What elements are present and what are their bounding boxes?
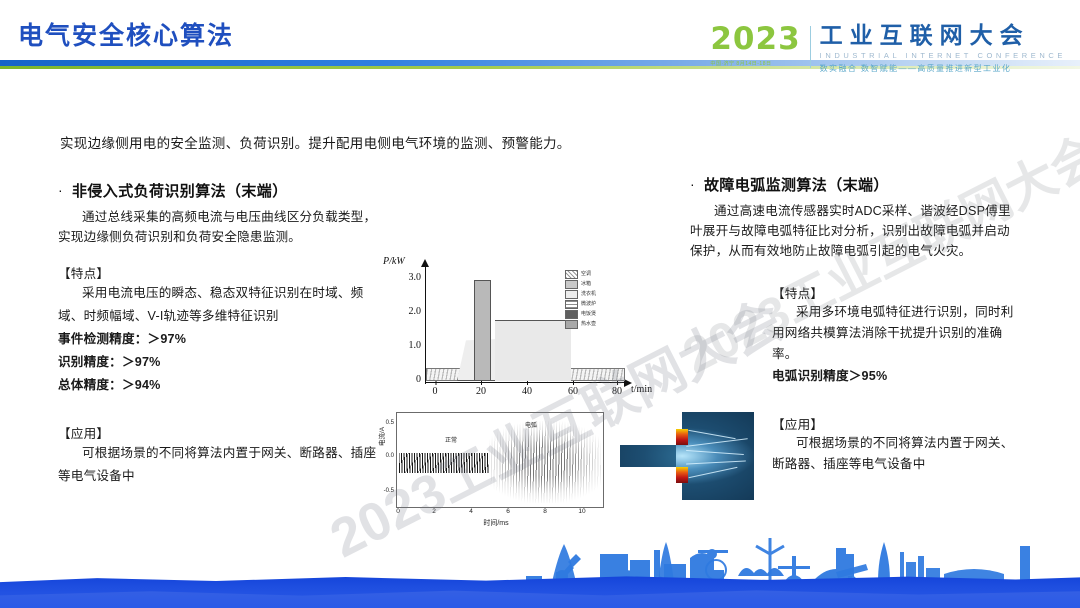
left-heading: 非侵入式负荷识别算法（末端） — [72, 180, 288, 201]
logo-name-cn: 工业互联网大会 — [820, 24, 1066, 47]
bullet-icon: · — [58, 180, 72, 200]
electrode-top — [620, 412, 682, 445]
chart2-xtick-5: 10 — [578, 508, 585, 515]
legend-label-1: 冰箱 — [581, 280, 596, 289]
chart1-legend: 空调 冰箱 洗衣机 微波炉 电饭煲 热水壶 — [565, 270, 596, 329]
chart1-xtick-0: 0 — [433, 386, 438, 397]
legend-label-0: 空调 — [581, 270, 596, 279]
chart2-ytick-0: 0.5 — [377, 420, 394, 426]
legend-swatch-1 — [565, 280, 578, 289]
legend-swatch-2 — [565, 290, 578, 299]
chart1-xtick-2: 40 — [522, 386, 532, 397]
chart2-xtick-1: 2 — [432, 508, 436, 515]
logo-year: 2023 — [710, 24, 800, 55]
chart2-series-arc — [489, 421, 601, 503]
legend-label-3: 微波炉 — [581, 300, 596, 309]
chart2-annotation-1: 电弧 — [525, 420, 537, 429]
chart2-xlabel: 时间/ms — [483, 518, 508, 528]
left-intro: 通过总线采集的高频电流与电压曲线区分负载类型，实现边缘侧负荷识别和负荷安全隐患监… — [58, 207, 388, 247]
footer-decoration — [0, 538, 1080, 608]
drone-wing-icon — [698, 550, 728, 553]
right-detail-block: 【特点】 采用多环境电弧特征进行识别，同时利用网络共模算法消除干扰提升识别的准确… — [772, 283, 1020, 475]
left-heading-row: · 非侵入式负荷识别算法（末端） — [58, 180, 388, 201]
chart1-legend-swatches — [565, 270, 578, 329]
left-metric-2: 总体精度：＞94% — [58, 374, 388, 397]
right-application-label: 【应用】 — [772, 414, 1020, 433]
left-metric-0: 事件检测精度：＞97% — [58, 328, 388, 351]
edge-tower-icon — [1020, 546, 1030, 582]
chart1-x-axis — [425, 382, 625, 383]
chart2-xtick-2: 4 — [469, 508, 473, 515]
logo-slogan: 数实融合 数智赋能——高质量推进新型工业化 — [820, 63, 1066, 74]
left-column: · 非侵入式负荷识别算法（末端） 通过总线采集的高频电流与电压曲线区分负载类型，… — [58, 180, 388, 488]
chart1-series-peak — [474, 280, 491, 381]
legend-label-4: 电饭煲 — [581, 310, 596, 319]
legend-swatch-3 — [565, 300, 578, 309]
chart1-xtick-4: 80 — [612, 386, 622, 397]
chart1-ylabel: P/kW — [383, 256, 405, 267]
slide-root: 电气安全核心算法 2023 中国·济宁 8月14日-18日 工业互联网大会 IN… — [0, 0, 1080, 608]
legend-swatch-4 — [565, 310, 578, 319]
chart1-xlabel: t/min — [631, 384, 652, 395]
arc-heat-strip-top — [676, 429, 688, 445]
logo-name-en: INDUSTRIAL INTERNET CONFERENCE — [820, 51, 1066, 60]
chart1-ytick-0: 3.0 — [409, 272, 422, 283]
chart2-series-normal — [399, 453, 489, 473]
page-title: 电气安全核心算法 — [18, 16, 234, 52]
logo-name-block: 工业互联网大会 INDUSTRIAL INTERNET CONFERENCE 数… — [820, 24, 1066, 74]
chart2-ytick-1: 0.0 — [377, 453, 394, 459]
right-intro: 通过高速电流传感器实时ADC采样、谐波经DSP傅里叶展开与故障电弧特征比对分析，… — [690, 201, 1020, 261]
chart1-xtick-3: 60 — [568, 386, 578, 397]
left-application-label: 【应用】 — [58, 423, 388, 442]
chart2-plot-frame: 正常 电弧 — [396, 412, 604, 508]
logo-divider — [810, 26, 811, 68]
mountain-icon — [738, 568, 784, 576]
chart2-xtick-3: 6 — [506, 508, 510, 515]
legend-swatch-5 — [565, 320, 578, 329]
chart2-xtick-0: 0 — [396, 508, 400, 515]
chart1-ytick-2: 1.0 — [409, 340, 422, 351]
eiffel-icon — [658, 542, 674, 582]
lead-paragraph: 实现边缘侧用电的安全监测、负荷识别。提升配用电侧电气环境的监测、预警能力。 — [60, 132, 571, 152]
chart1-y-axis — [425, 266, 426, 384]
arc-heat-strip-bottom — [676, 467, 688, 483]
pagoda-icon — [778, 556, 810, 582]
legend-label-5: 热水壶 — [581, 320, 596, 329]
chart2-ylabel: 电流/A — [376, 427, 386, 446]
left-features-label: 【特点】 — [58, 263, 388, 282]
chart1-xtick-1: 20 — [476, 386, 486, 397]
right-features-label: 【特点】 — [772, 283, 1020, 302]
chart2-ytick-2: -0.5 — [377, 488, 394, 494]
chart2-annotation-0: 正常 — [445, 435, 457, 444]
skyline-illustration — [0, 536, 1080, 582]
arc-photo — [620, 412, 754, 500]
conference-logo: 2023 中国·济宁 8月14日-18日 工业互联网大会 INDUSTRIAL … — [710, 24, 1066, 74]
left-metric-1: 识别精度：＞97% — [58, 351, 388, 374]
chart-arc-waveform: 电流/A 正常 电弧 0.5 0.0 -0.5 0 2 4 6 8 10 时间/… — [378, 408, 613, 533]
chart1-ytick-3: 0 — [416, 374, 421, 385]
skyscraper-icon — [878, 542, 890, 582]
right-features-body: 采用多环境电弧特征进行识别，同时利用网络共模算法消除干扰提升识别的准确率。 — [772, 302, 1020, 365]
right-application-body: 可根据场景的不同将算法内置于网关、断路器、插座等电气设备中 — [772, 433, 1020, 475]
left-application-body: 可根据场景的不同将算法内置于网关、断路器、插座等电气设备中 — [58, 442, 388, 488]
right-heading: 故障电弧监测算法（末端） — [704, 174, 889, 195]
chart2-xtick-4: 8 — [543, 508, 547, 515]
right-heading-row: · 故障电弧监测算法（末端） — [690, 174, 1020, 195]
chart-power-load: P/kW 3.0 2.0 1.0 0 0 20 40 60 80 t/min — [375, 258, 640, 408]
bullet-icon: · — [690, 174, 704, 194]
chart1-legend-labels: 空调 冰箱 洗衣机 微波炉 电饭煲 热水壶 — [581, 270, 596, 329]
legend-label-2: 洗衣机 — [581, 290, 596, 299]
logo-year-subtitle: 中国·济宁 8月14日-18日 — [710, 60, 800, 67]
chart1-series-main-plateau — [495, 320, 571, 381]
left-features-body: 采用电流电压的瞬态、稳态双特征识别在时域、频域、时频幅域、V-I轨迹等多维特征识… — [58, 282, 388, 328]
electrode-bottom — [620, 467, 682, 500]
legend-swatch-0 — [565, 270, 578, 279]
right-metric: 电弧识别精度＞95% — [772, 365, 1020, 388]
logo-year-block: 2023 中国·济宁 8月14日-18日 — [710, 24, 800, 67]
chart1-ytick-1: 2.0 — [409, 306, 422, 317]
